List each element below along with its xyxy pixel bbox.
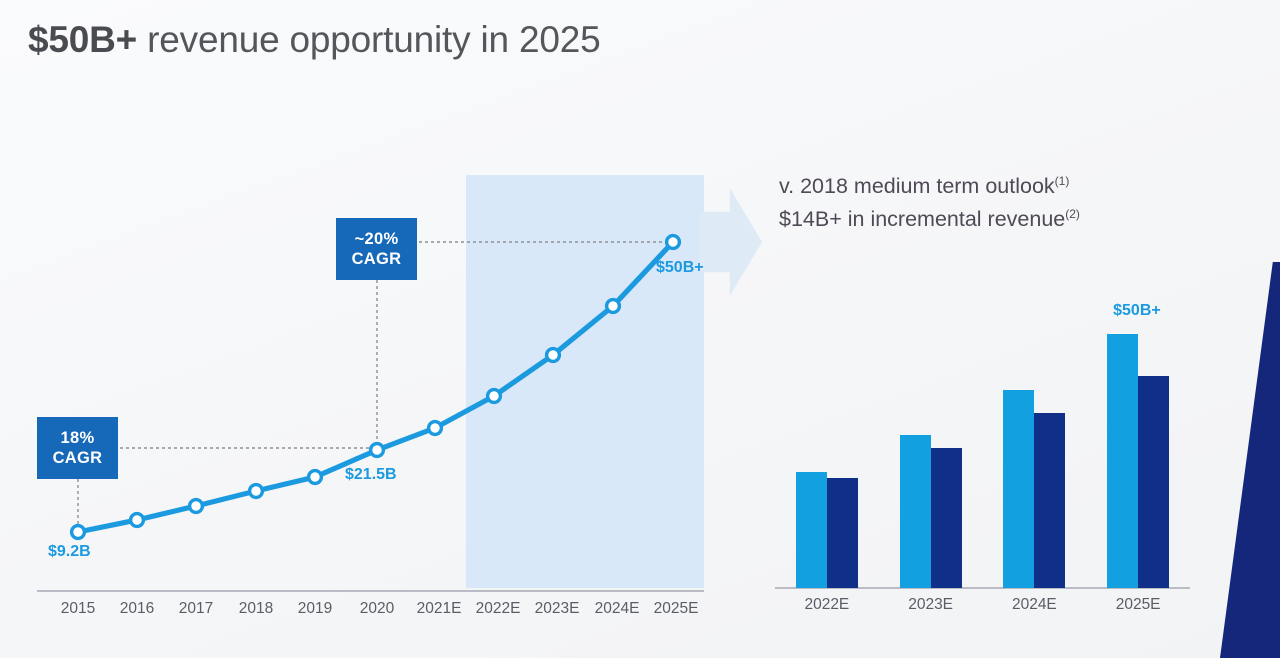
x-tick-2016: 2016 (120, 600, 154, 618)
bar-x-tick-2022e: 2022E (796, 596, 858, 622)
x-tick-2024e: 2024E (595, 600, 640, 618)
x-tick-2025e: 2025E (654, 600, 699, 618)
bar-chart-x-tick-labels: 2022E 2023E 2024E 2025E (775, 596, 1190, 622)
x-tick-2017: 2017 (179, 600, 213, 618)
data-point-2022e (488, 390, 501, 403)
data-point-2015 (72, 526, 85, 539)
cagr-badge-forecast-value: ~20% (355, 229, 399, 249)
line-chart-x-tick-labels: 2015 2016 2017 2018 2019 2020 2021E 2022… (37, 600, 704, 626)
bar-x-tick-2023e: 2023E (900, 596, 962, 622)
data-point-2021e (429, 422, 442, 435)
x-tick-2020: 2020 (360, 600, 394, 618)
bar-group-2022e (796, 328, 858, 588)
cagr-badge-historical-value: 18% (61, 428, 95, 448)
side-annotation-line-1-text: v. 2018 medium term outlook (779, 174, 1055, 198)
bar-x-tick-2025e: 2025E (1107, 596, 1169, 622)
cagr-badge-historical-label: CAGR (53, 448, 103, 468)
x-tick-2021e: 2021E (417, 600, 462, 618)
bar-group-2023e (900, 328, 962, 588)
cagr-badge-forecast-label: CAGR (352, 249, 402, 269)
bar-chart: $50B+ 2022E 2023E 2024E 2025E (770, 300, 1200, 630)
data-point-2020 (371, 444, 384, 457)
footnote-marker-2: (2) (1065, 207, 1080, 221)
cagr-badge-forecast: ~20% CAGR (336, 218, 417, 280)
data-label-2025e: $50B+ (656, 259, 704, 277)
line-chart: 18% CAGR ~20% CAGR $9.2B $21.5B $50B+ 20… (0, 0, 770, 640)
bar-group-2025e: $50B+ (1107, 328, 1169, 588)
x-tick-2015: 2015 (61, 600, 95, 618)
bar-2023e-current (900, 435, 931, 588)
bar-2022e-current (796, 472, 827, 588)
revenue-line (78, 242, 673, 532)
bar-2025e-prior (1138, 376, 1169, 588)
side-annotation-line-1: v. 2018 medium term outlook(1) (779, 170, 1080, 203)
data-point-2024e (607, 300, 620, 313)
slide-canvas: $50B+ revenue opportunity in 2025 v. 201… (0, 0, 1280, 658)
decorative-corner-wedge (1220, 262, 1280, 658)
footnote-marker-1: (1) (1055, 174, 1070, 188)
bar-2024e-current (1003, 390, 1034, 588)
data-point-2018 (250, 485, 263, 498)
cagr-badge-historical: 18% CAGR (37, 417, 118, 479)
bar-x-tick-2024e: 2024E (1003, 596, 1065, 622)
bar-2023e-prior (931, 448, 962, 588)
data-point-2019 (309, 471, 322, 484)
data-point-2023e (547, 349, 560, 362)
bar-data-label-2025e: $50B+ (1113, 302, 1161, 320)
data-label-2015: $9.2B (48, 543, 91, 561)
data-point-2016 (131, 514, 144, 527)
data-point-2017 (190, 500, 203, 513)
connector-lines (78, 242, 668, 527)
x-tick-2022e: 2022E (476, 600, 521, 618)
bar-group-2024e (1003, 328, 1065, 588)
side-annotation: v. 2018 medium term outlook(1) $14B+ in … (779, 170, 1080, 236)
data-point-2025e (667, 236, 680, 249)
bar-chart-plot: $50B+ (775, 328, 1190, 588)
bar-2025e-current (1107, 334, 1138, 588)
x-tick-2023e: 2023E (535, 600, 580, 618)
data-point-markers (72, 236, 680, 539)
line-chart-plot (0, 0, 770, 640)
bar-2022e-prior (827, 478, 858, 588)
bar-2024e-prior (1034, 413, 1065, 588)
side-annotation-line-2: $14B+ in incremental revenue(2) (779, 203, 1080, 236)
x-tick-2018: 2018 (239, 600, 273, 618)
side-annotation-line-2-text: $14B+ in incremental revenue (779, 207, 1065, 231)
data-label-2020: $21.5B (345, 466, 397, 484)
x-tick-2019: 2019 (298, 600, 332, 618)
